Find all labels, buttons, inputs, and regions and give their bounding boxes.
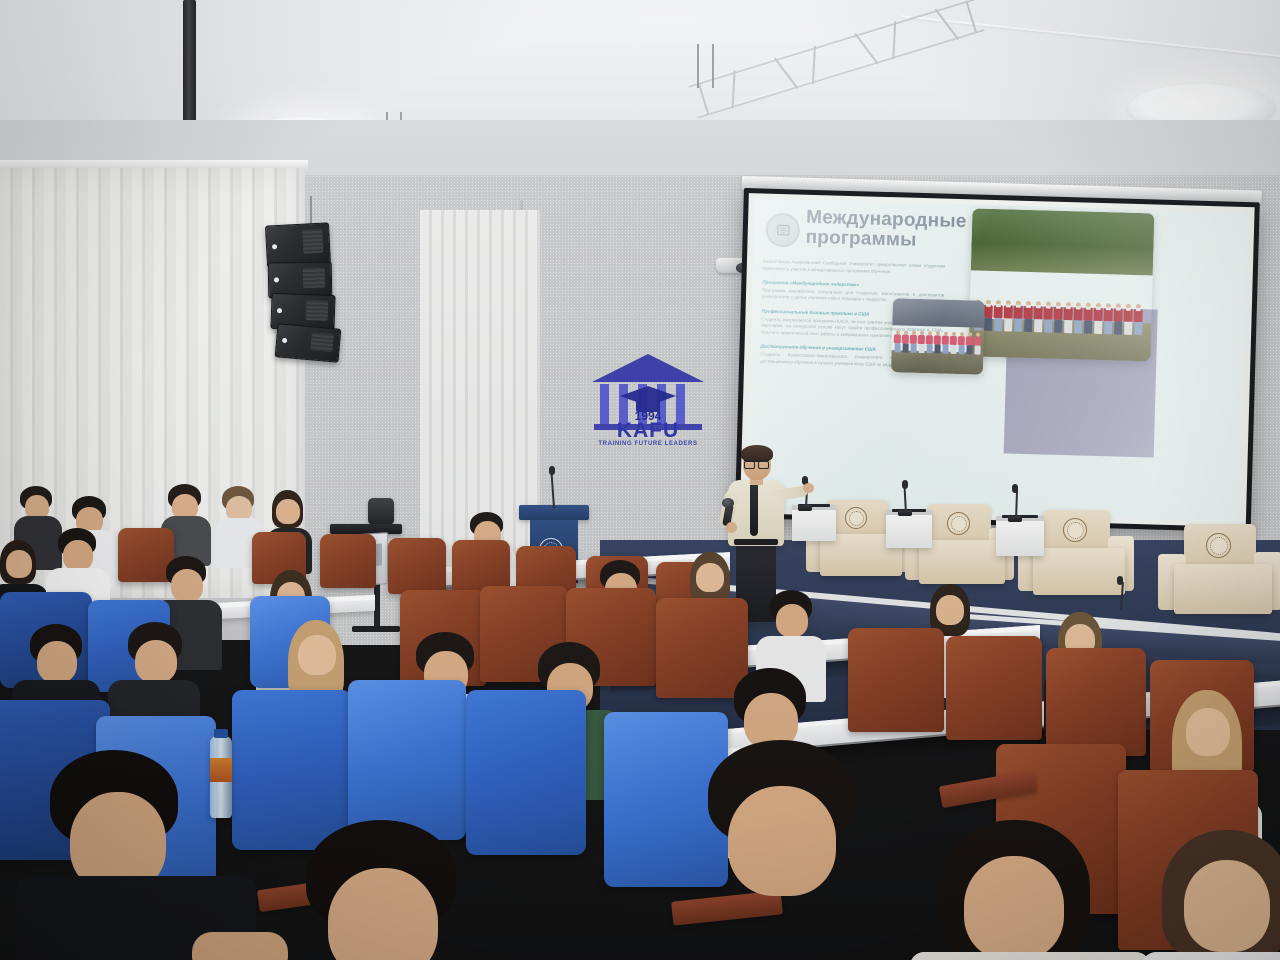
slide: Международные программы Казахстанско-Аме… [746,198,1248,522]
slide-photo-red-shirts [968,208,1154,361]
lecture-hall-photo: 1994 KAFU TRAINING FUTURE LEADERS Междун… [0,0,1280,960]
slide-intro: Казахстанско-Американский Свободный Унив… [763,259,945,277]
table-microphone-base [1008,516,1022,522]
logo-name: KAFU [617,419,679,442]
audience-seat[interactable] [946,636,1042,740]
table-microphone-head [1012,484,1018,493]
audience-seat[interactable] [320,534,376,588]
audience-seat[interactable] [848,628,944,732]
presentation-board-icon [765,213,800,248]
logo-tagline: TRAINING FUTURE LEADERS [598,441,697,447]
av-camera [368,498,394,525]
table-microphone-head [902,480,908,489]
av-desk-foot [352,626,400,632]
podium-microphone-head [549,466,555,475]
stage-armchair [1158,524,1280,628]
audience-seat[interactable] [348,680,466,840]
audience-seat[interactable] [388,538,446,594]
table-microphone-head [1117,576,1123,585]
glasses-icon [744,460,769,468]
water-bottle [210,736,232,818]
slide-photo-pink-shirts [891,298,985,375]
line-array-speaker-module [275,323,342,362]
speaker-suspension-wire [310,196,312,224]
seat-armrest [671,890,783,925]
table-microphone-base [898,510,912,516]
projection-screen: Международные программы Казахстанско-Аме… [735,188,1260,532]
truss-drop [712,44,714,88]
audience-seat[interactable] [232,690,352,850]
hand [192,932,288,960]
audience-seat[interactable] [466,690,586,855]
kafu-wall-logo: 1994 KAFU TRAINING FUTURE LEADERS [578,348,718,448]
truss-drop [697,44,699,88]
audience-seat[interactable] [1046,648,1146,756]
stage-side-table [996,516,1044,556]
audience-seat[interactable] [656,598,748,698]
av-control-desk [330,524,402,534]
